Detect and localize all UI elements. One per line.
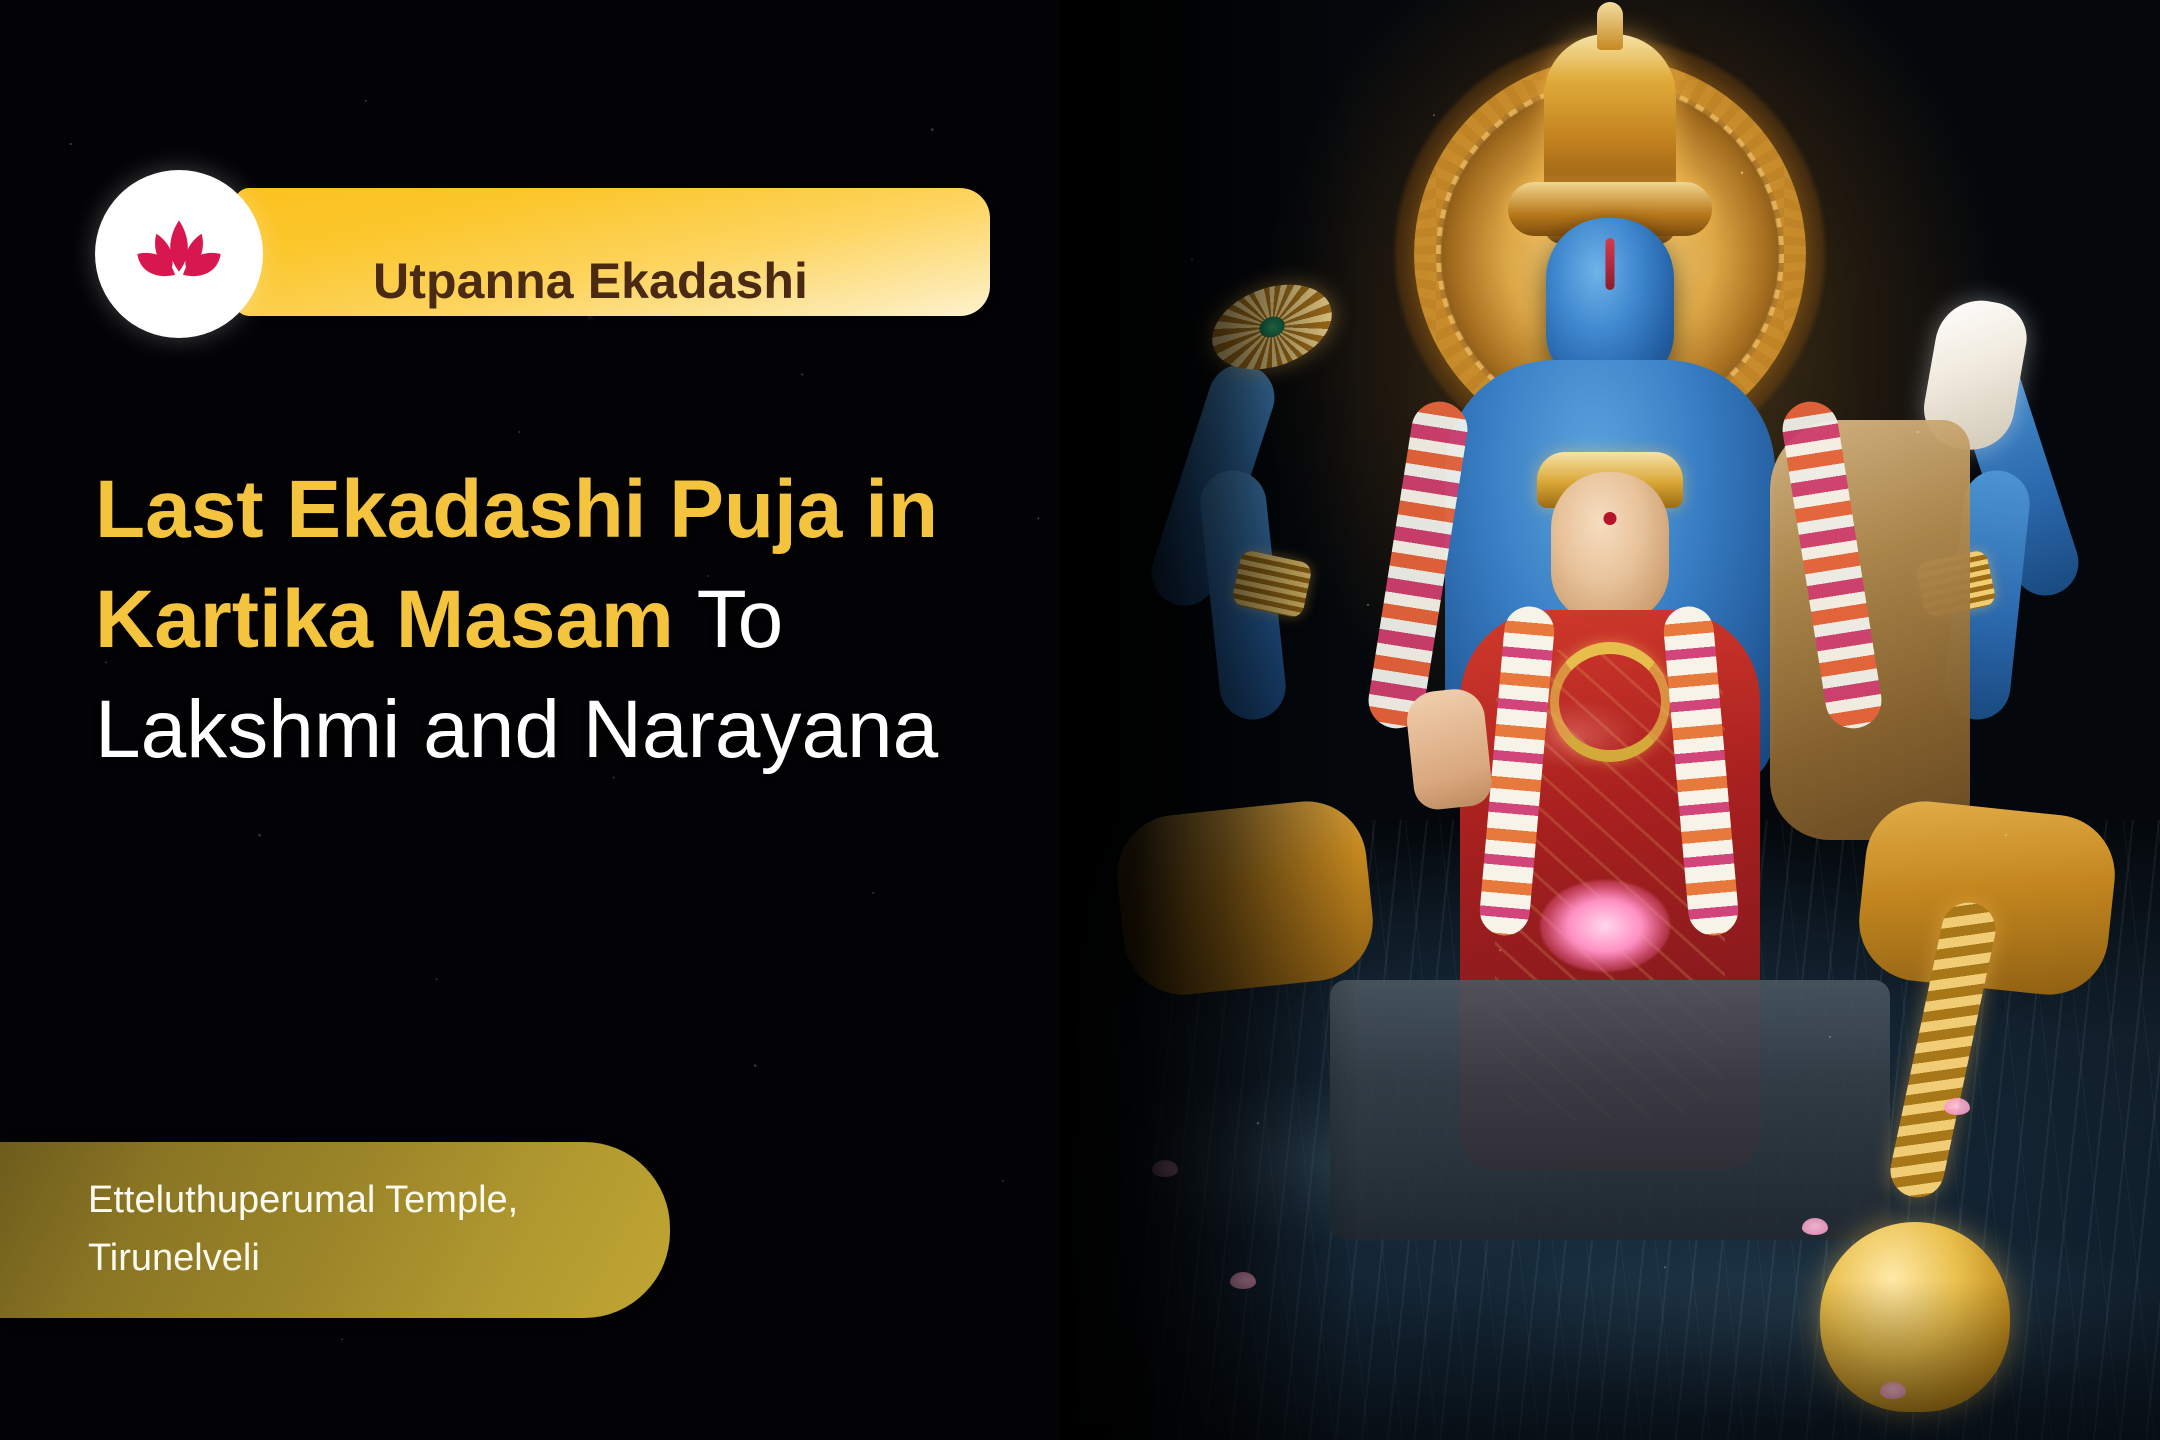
- lakshmi-head: [1551, 472, 1669, 622]
- badge-icon-circle: [95, 170, 263, 338]
- lotus-icon: [131, 215, 227, 293]
- bindi-icon: [1604, 512, 1617, 525]
- location-badge[interactable]: Etteluthuperumal Temple, Tirunelveli: [0, 1142, 670, 1318]
- pink-petal: [1944, 1098, 1970, 1115]
- crown-icon: [1544, 34, 1676, 244]
- badge-label: Utpanna Ekadashi: [373, 252, 808, 310]
- deity-artwork: [1060, 0, 2160, 1440]
- poster-canvas: Utpanna Ekadashi Last Ekadashi Puja in K…: [0, 0, 2160, 1440]
- location-label: Etteluthuperumal Temple, Tirunelveli: [88, 1179, 518, 1279]
- headline-accent-text: Last Ekadashi Puja in Kartika Masam: [95, 464, 938, 665]
- artwork-bottom-fade: [1060, 1280, 2160, 1440]
- tilak-mark: [1606, 238, 1615, 290]
- pink-petal: [1802, 1218, 1828, 1235]
- stone-pedestal: [1330, 980, 1890, 1240]
- artwork-left-fade: [1060, 0, 1360, 1440]
- lotus-flower-glow: [1540, 880, 1670, 972]
- lakshmi-necklace: [1550, 642, 1670, 762]
- lakshmi-blessing-hand: [1404, 686, 1494, 812]
- page-title: Last Ekadashi Puja in Kartika Masam To L…: [95, 455, 1045, 785]
